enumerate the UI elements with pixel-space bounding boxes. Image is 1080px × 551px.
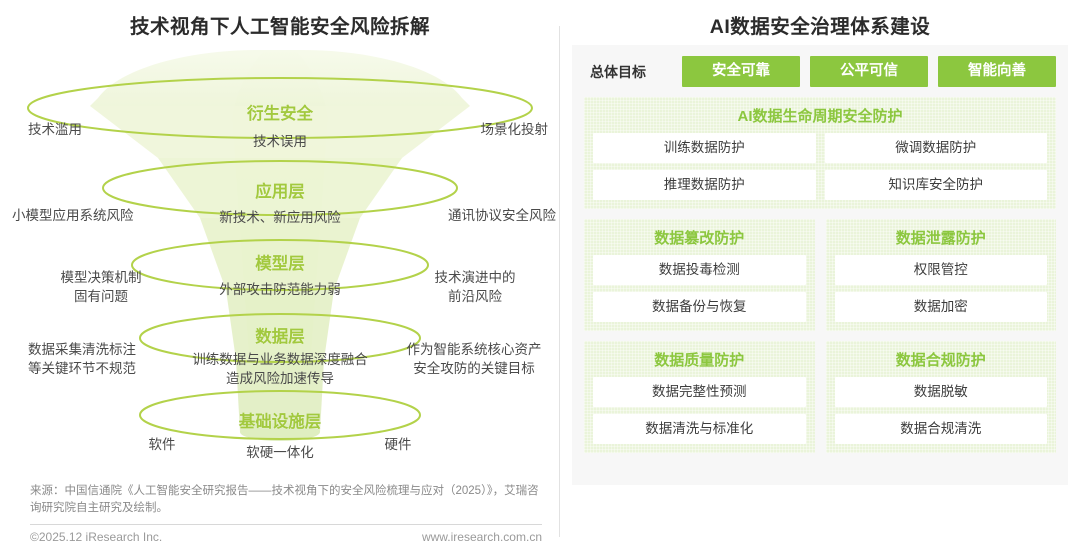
goal-button-3[interactable]: 智能向善 — [938, 56, 1056, 87]
goal-button-2[interactable]: 公平可信 — [810, 56, 928, 87]
card-leak-protection: 数据泄露防护 权限管控 数据加密 — [826, 219, 1057, 331]
overall-goal-buttons: 安全可靠 公平可信 智能向善 — [682, 56, 1056, 87]
chip-inference-data[interactable]: 推理数据防护 — [593, 170, 816, 200]
card-lifecycle-chips: 训练数据防护 推理数据防护 微调数据防护 知识库安全防护 — [593, 133, 1047, 200]
funnel-layer-title-2: 应用层 — [160, 178, 400, 202]
chip-cleaning-standardization[interactable]: 数据清洗与标准化 — [593, 414, 806, 444]
funnel-layer-right-2: 通讯协议安全风险 — [396, 206, 556, 225]
funnel-layer-left-1: 技术滥用 — [28, 120, 148, 139]
right-panel-title: AI数据安全治理体系建设 — [560, 10, 1080, 39]
card-compliance-title: 数据合规防护 — [835, 349, 1048, 370]
left-panel: 技术视角下人工智能安全风险拆解 — [0, 0, 560, 551]
chip-data-masking[interactable]: 数据脱敏 — [835, 377, 1048, 407]
overall-goal-label: 总体目标 — [584, 62, 682, 82]
chip-poison-detection[interactable]: 数据投毒检测 — [593, 255, 806, 285]
funnel-layer-right-1: 场景化投射 — [408, 120, 548, 139]
left-footer: ©2025.12 iResearch Inc. www.iresearch.co… — [30, 530, 542, 550]
chip-integrity-prediction[interactable]: 数据完整性预测 — [593, 377, 806, 407]
funnel-layer-right-5: 硬件 — [376, 435, 420, 454]
left-panel-title: 技术视角下人工智能安全风险拆解 — [0, 10, 560, 39]
chip-backup-recovery[interactable]: 数据备份与恢复 — [593, 292, 806, 322]
funnel-layer-title-4: 数据层 — [160, 323, 400, 347]
card-lifecycle-col-right: 微调数据防护 知识库安全防护 — [825, 133, 1048, 200]
chip-knowledge-base[interactable]: 知识库安全防护 — [825, 170, 1048, 200]
card-quality-protection: 数据质量防护 数据完整性预测 数据清洗与标准化 — [584, 341, 815, 453]
card-tamper-items: 数据投毒检测 数据备份与恢复 — [593, 255, 806, 322]
card-compliance-protection: 数据合规防护 数据脱敏 数据合规清洗 — [826, 341, 1057, 453]
goal-button-1[interactable]: 安全可靠 — [682, 56, 800, 87]
chip-access-control[interactable]: 权限管控 — [835, 255, 1048, 285]
overall-goal-row: 总体目标 安全可靠 公平可信 智能向善 — [584, 55, 1056, 88]
card-quality-title: 数据质量防护 — [593, 349, 806, 370]
chip-training-data[interactable]: 训练数据防护 — [593, 133, 816, 163]
left-source-note: 来源：中国信通院《人工智能安全研究报告——技术视角下的安全风险梳理与应对（202… — [30, 483, 540, 517]
funnel-layer-title-5: 基础设施层 — [160, 408, 400, 432]
funnel-layer-left-4: 数据采集清洗标注 等关键环节不规范 — [6, 340, 158, 378]
card-tamper-protection: 数据篡改防护 数据投毒检测 数据备份与恢复 — [584, 219, 815, 331]
card-row-2: 数据质量防护 数据完整性预测 数据清洗与标准化 数据合规防护 数据脱敏 数据合规… — [584, 341, 1056, 453]
governance-framework: 总体目标 安全可靠 公平可信 智能向善 AI数据生命周期安全防护 训练数据防护 … — [572, 45, 1068, 485]
funnel-layer-right-4: 作为智能系统核心资产 安全攻防的关键目标 — [388, 340, 560, 378]
chip-compliant-cleaning[interactable]: 数据合规清洗 — [835, 414, 1048, 444]
right-panel: AI数据安全治理体系建设 总体目标 安全可靠 公平可信 智能向善 AI数据生命周… — [560, 0, 1080, 551]
left-footer-divider — [30, 524, 542, 525]
card-leak-items: 权限管控 数据加密 — [835, 255, 1048, 322]
chip-finetune-data[interactable]: 微调数据防护 — [825, 133, 1048, 163]
left-footer-copyright: ©2025.12 iResearch Inc. — [30, 530, 162, 544]
card-quality-items: 数据完整性预测 数据清洗与标准化 — [593, 377, 806, 444]
funnel-layer-center-1: 技术误用 — [130, 132, 430, 151]
left-footer-website: www.iresearch.com.cn — [422, 530, 542, 544]
chip-encryption[interactable]: 数据加密 — [835, 292, 1048, 322]
card-lifecycle-title: AI数据生命周期安全防护 — [593, 105, 1047, 126]
funnel-diagram: 衍生安全 技术误用 技术滥用 场景化投射 应用层 新技术、新应用风险 小模型应用… — [0, 40, 560, 470]
funnel-layer-center-4: 训练数据与业务数据深度融合 造成风险加速传导 — [130, 350, 430, 388]
funnel-layer-right-3: 技术演进中的 前沿风险 — [410, 268, 540, 306]
card-lifecycle: AI数据生命周期安全防护 训练数据防护 推理数据防护 微调数据防护 知识库安全防… — [584, 97, 1056, 209]
funnel-layer-center-3: 外部攻击防范能力弱 — [130, 280, 430, 299]
funnel-layer-title-1: 衍生安全 — [160, 100, 400, 124]
funnel-layer-center-2: 新技术、新应用风险 — [130, 208, 430, 227]
card-row-1: 数据篡改防护 数据投毒检测 数据备份与恢复 数据泄露防护 权限管控 数据加密 — [584, 219, 1056, 331]
funnel-layer-left-5: 软件 — [140, 435, 184, 454]
card-tamper-title: 数据篡改防护 — [593, 227, 806, 248]
funnel-layer-left-3: 模型决策机制 固有问题 — [36, 268, 166, 306]
funnel-layer-left-2: 小模型应用系统风险 — [12, 206, 172, 225]
card-lifecycle-col-left: 训练数据防护 推理数据防护 — [593, 133, 816, 200]
funnel-layer-title-3: 模型层 — [160, 250, 400, 274]
slide-root: 技术视角下人工智能安全风险拆解 — [0, 0, 1080, 551]
card-compliance-items: 数据脱敏 数据合规清洗 — [835, 377, 1048, 444]
card-leak-title: 数据泄露防护 — [835, 227, 1048, 248]
